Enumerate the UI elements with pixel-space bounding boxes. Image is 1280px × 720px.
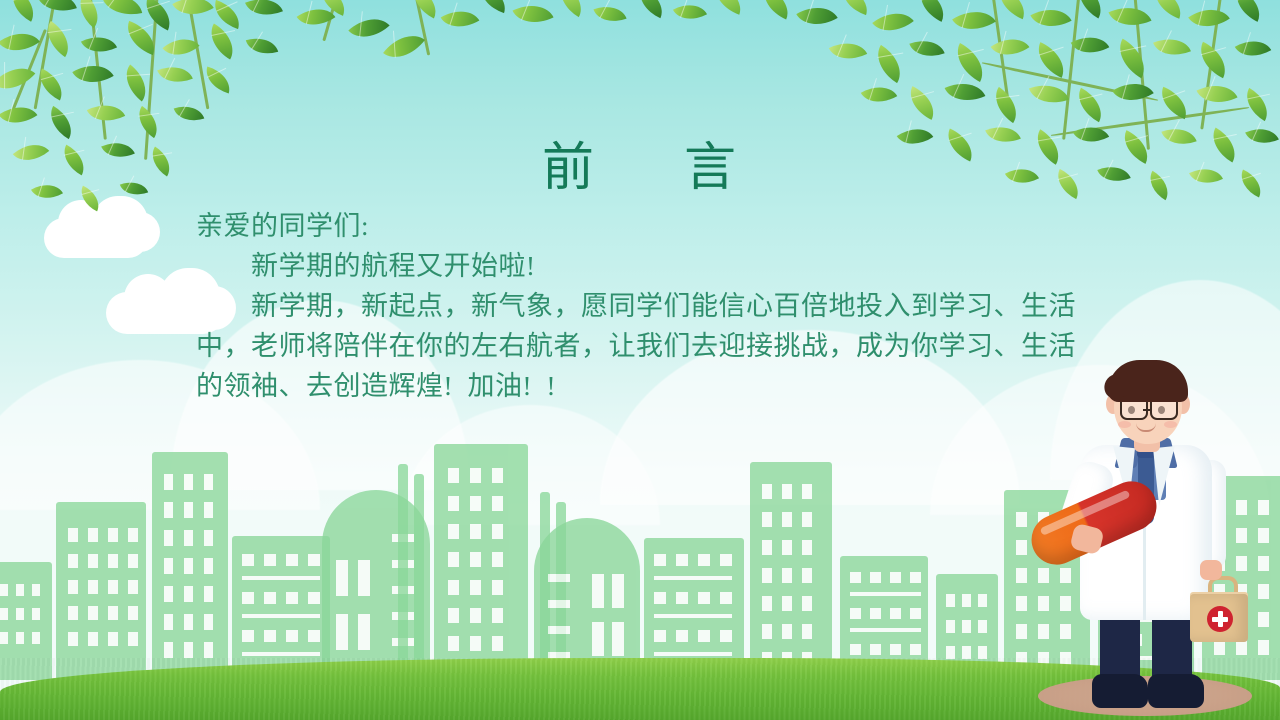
building-antenna [414,474,424,680]
building [434,444,528,680]
eyeglasses-bridge [1143,409,1152,412]
page-title: 前 言 [0,143,1280,195]
building [534,518,640,680]
building [750,462,832,680]
red-cross-icon [1207,606,1233,632]
cloud-upper-left [44,196,164,258]
slide-canvas: 前 言 亲爱的同学们: 新学期的航程又开始啦! 新学期，新起点，新气象，愿同学们… [0,0,1280,720]
hand-right [1200,560,1222,580]
shoe-left [1092,674,1148,708]
building [152,452,228,680]
doctor-character [1044,340,1264,720]
title-char-1: 前 [542,140,596,197]
cheek-right [1164,421,1177,428]
shoe-right [1148,674,1204,708]
title-char-2: 言 [684,140,738,197]
cheek-left [1118,421,1131,428]
building [56,502,146,680]
building-antenna [398,464,408,680]
preface-body-text: 亲爱的同学们: 新学期的航程又开始啦! 新学期，新起点，新气象，愿同学们能信心百… [196,206,1076,406]
